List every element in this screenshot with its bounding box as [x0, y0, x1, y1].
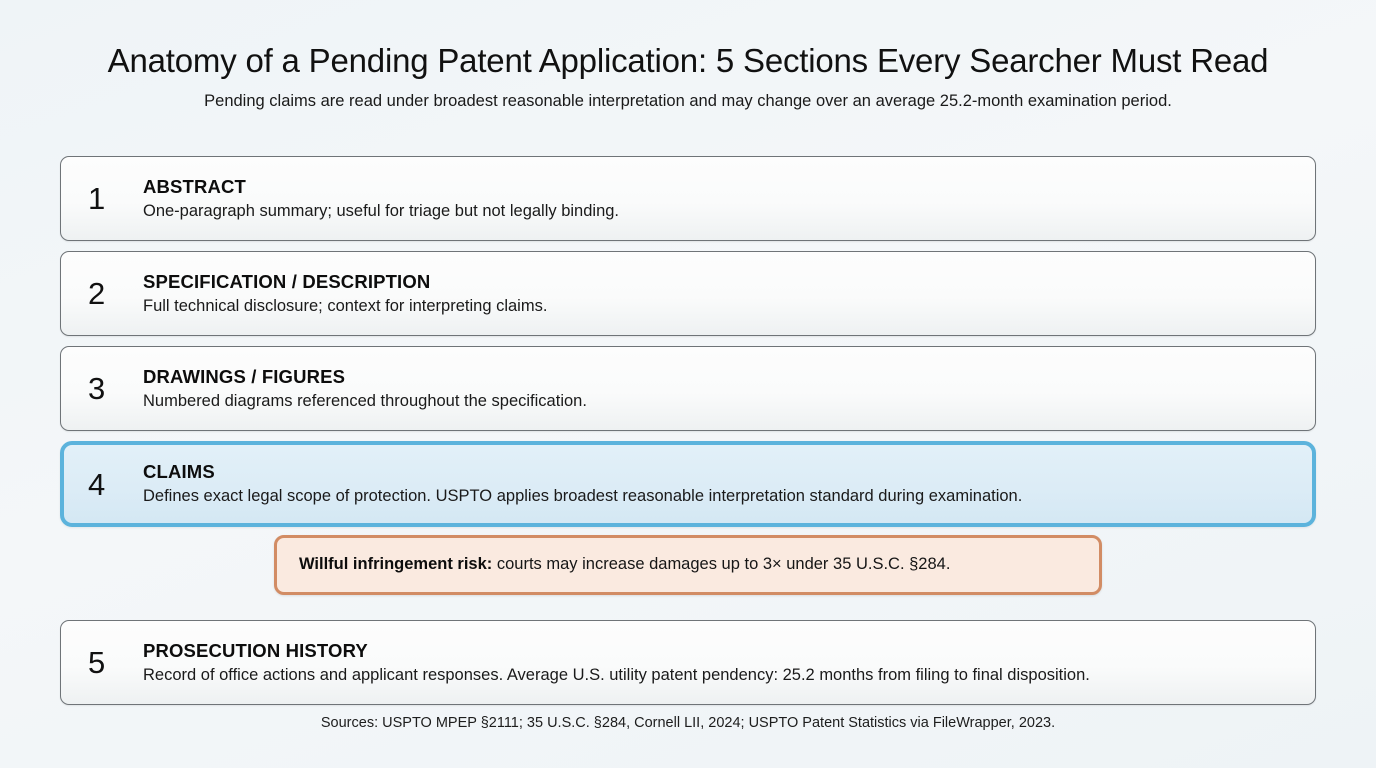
section-card[interactable]: 5PROSECUTION HISTORYRecord of office act…	[60, 620, 1316, 705]
callout-label: Willful infringement risk:	[299, 555, 492, 573]
section-body: SPECIFICATION / DESCRIPTIONFull technica…	[143, 271, 1315, 316]
header: Anatomy of a Pending Patent Application:…	[0, 42, 1376, 112]
callout-container: Willful infringement risk: courts may in…	[0, 535, 1376, 595]
section-description: One-paragraph summary; useful for triage…	[143, 201, 1297, 222]
sections-list: 1ABSTRACTOne-paragraph summary; useful f…	[60, 156, 1316, 715]
callout-body: courts may increase damages up to 3× und…	[492, 555, 950, 573]
section-description: Full technical disclosure; context for i…	[143, 296, 1297, 317]
footer: Sources: USPTO MPEP §2111; 35 U.S.C. §28…	[0, 715, 1376, 732]
section-body: PROSECUTION HISTORYRecord of office acti…	[143, 640, 1315, 685]
section-description: Record of office actions and applicant r…	[143, 665, 1297, 686]
section-number: 1	[88, 183, 134, 214]
section-description: Defines exact legal scope of protection.…	[143, 486, 1294, 507]
sources-note: Sources: USPTO MPEP §2111; 35 U.S.C. §28…	[0, 715, 1376, 732]
page-title: Anatomy of a Pending Patent Application:…	[0, 42, 1376, 80]
willful-infringement-callout: Willful infringement risk: courts may in…	[274, 535, 1102, 595]
section-title: SPECIFICATION / DESCRIPTION	[143, 271, 1297, 293]
section-number: 4	[88, 469, 134, 500]
section-number: 5	[88, 647, 134, 678]
section-number: 3	[88, 373, 134, 404]
section-body: ABSTRACTOne-paragraph summary; useful fo…	[143, 176, 1315, 221]
section-body: DRAWINGS / FIGURESNumbered diagrams refe…	[143, 366, 1315, 411]
section-card[interactable]: 4CLAIMSDefines exact legal scope of prot…	[60, 441, 1316, 527]
infographic-page: Anatomy of a Pending Patent Application:…	[0, 0, 1376, 768]
page-subtitle: Pending claims are read under broadest r…	[0, 92, 1376, 112]
section-title: DRAWINGS / FIGURES	[143, 366, 1297, 388]
section-title: ABSTRACT	[143, 176, 1297, 198]
section-card[interactable]: 1ABSTRACTOne-paragraph summary; useful f…	[60, 156, 1316, 241]
section-card[interactable]: 2SPECIFICATION / DESCRIPTIONFull technic…	[60, 251, 1316, 336]
section-description: Numbered diagrams referenced throughout …	[143, 391, 1297, 412]
section-card[interactable]: 3DRAWINGS / FIGURESNumbered diagrams ref…	[60, 346, 1316, 431]
section-title: PROSECUTION HISTORY	[143, 640, 1297, 662]
section-body: CLAIMSDefines exact legal scope of prote…	[143, 461, 1312, 506]
section-number: 2	[88, 278, 134, 309]
section-title: CLAIMS	[143, 461, 1294, 483]
callout-text: Willful infringement risk: courts may in…	[299, 555, 950, 575]
